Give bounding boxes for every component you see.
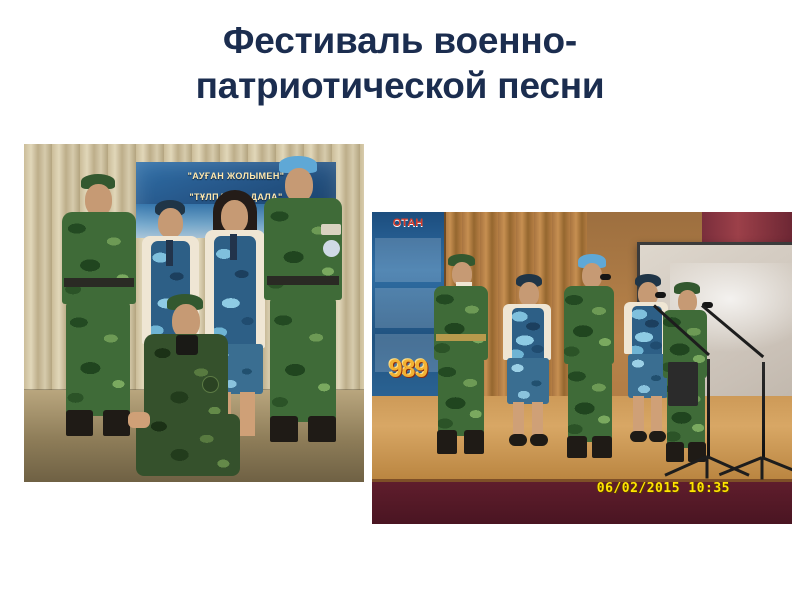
leg-left — [513, 402, 524, 438]
uniform-trousers — [136, 414, 240, 476]
belt — [436, 334, 486, 341]
leg-right — [532, 402, 543, 438]
head — [519, 282, 539, 306]
mic-pole — [762, 362, 765, 458]
head — [582, 263, 602, 288]
boot-right — [592, 436, 612, 458]
head — [285, 168, 313, 202]
left-photo-scene: "АУҒАН ЖОЛЫМЕН" "ТҰЛПАРЛЫ ДАЛА" — [24, 144, 364, 482]
shoe-right — [649, 431, 666, 442]
microphone-icon — [655, 292, 666, 298]
uniform-trousers — [270, 298, 336, 422]
collar-undershirt — [176, 335, 198, 355]
uniform-trousers — [66, 302, 130, 416]
hand — [128, 412, 150, 428]
leg-right — [240, 392, 255, 436]
camera-timestamp: 06/02/2015 10:35 — [597, 481, 730, 496]
poster-photo-band-1 — [375, 238, 441, 282]
uniform-jacket — [62, 212, 136, 304]
leg-right — [651, 396, 662, 434]
boot-right — [308, 416, 336, 442]
head — [158, 208, 183, 238]
shoe-right — [530, 434, 548, 446]
uniform-jacket — [564, 286, 614, 364]
leg-left — [633, 396, 644, 434]
camo-skirt — [507, 358, 549, 404]
belt — [267, 276, 339, 285]
boot-left — [437, 430, 457, 454]
necktie — [166, 240, 173, 266]
shoulder-emblem — [323, 240, 340, 257]
presentation-slide: Фестиваль военно- патриотической песни "… — [0, 0, 800, 600]
boot-left — [66, 410, 93, 436]
shoe-left — [509, 434, 527, 446]
necktie — [230, 234, 237, 260]
head — [221, 200, 248, 233]
page-title: Фестиваль военно- патриотической песни — [60, 18, 740, 108]
shoe-left — [630, 431, 647, 442]
poster-photo-band-2 — [375, 288, 441, 328]
uniform-trousers — [568, 362, 612, 442]
boot-right — [103, 410, 130, 436]
camo-skirt — [628, 354, 668, 398]
mic-pole — [707, 359, 710, 457]
sleeve-patch — [321, 224, 341, 235]
uniform-jacket — [434, 286, 488, 360]
boot-right — [464, 430, 484, 454]
boot-left — [666, 442, 684, 462]
microphone-icon — [600, 274, 611, 280]
camo-pinafore-top — [512, 308, 544, 362]
boot-left — [567, 436, 587, 458]
sleeve-badge — [202, 376, 219, 393]
head — [172, 304, 200, 338]
mic-leg-3 — [761, 458, 764, 480]
poster-heading-text: ОТАН — [372, 217, 444, 229]
boot-left — [270, 416, 298, 442]
belt — [64, 278, 134, 287]
camo-pinafore-top — [632, 306, 662, 358]
right-photo-scene: ОТАН 989 — [372, 212, 792, 524]
chair — [668, 362, 698, 406]
photo-right-stage-performance: ОТАН 989 — [372, 212, 792, 524]
mic-leg-3 — [706, 457, 709, 479]
uniform-trousers — [438, 358, 484, 436]
photo-left-group-cadets: "АУҒАН ЖОЛЫМЕН" "ТҰЛПАРЛЫ ДАЛА" — [24, 144, 364, 482]
poster-year-text: 989 — [372, 355, 444, 384]
